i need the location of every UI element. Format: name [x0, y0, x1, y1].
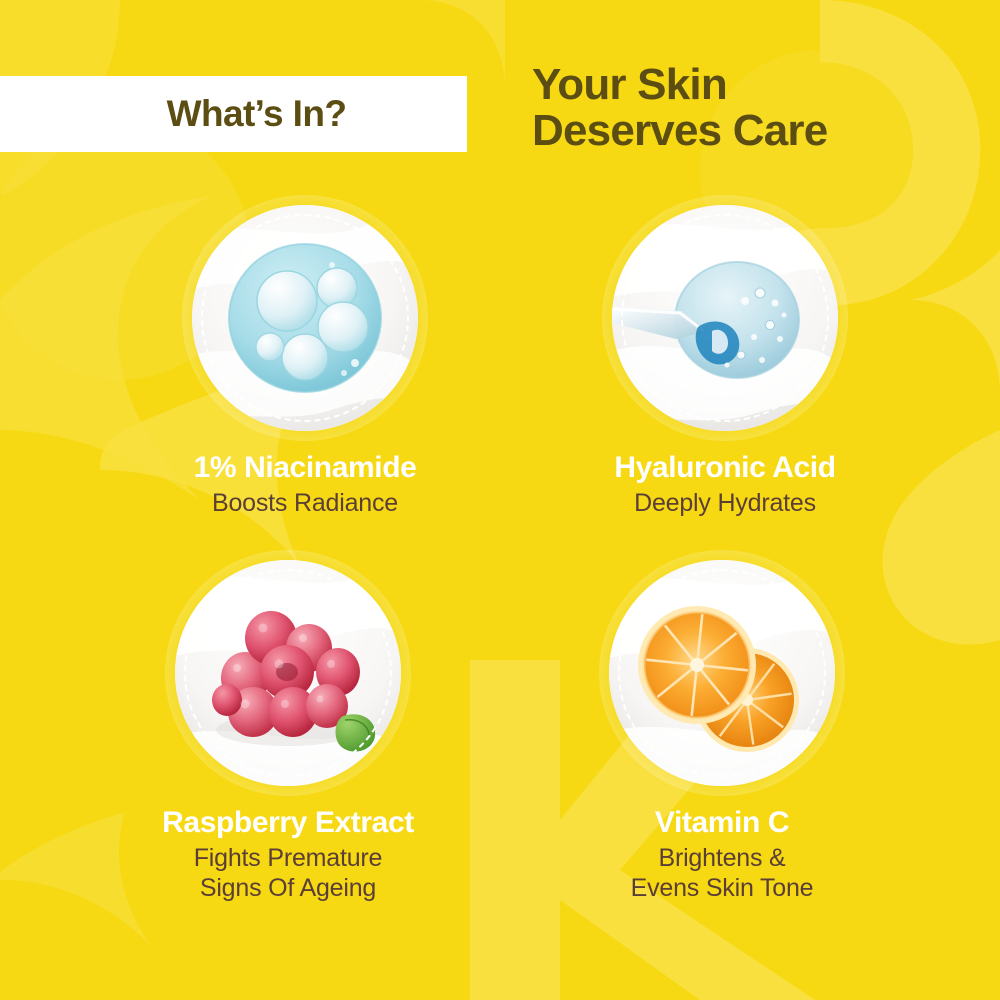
ingredient-name: Vitamin C [572, 806, 872, 840]
whats-in-banner: What’s In? [0, 76, 467, 152]
ingredient-image-wrap [175, 560, 401, 786]
benefit-line: Brightens & [572, 843, 872, 873]
orange-slices-on-cream-swatch-icon [609, 560, 835, 786]
raspberries-on-cream-swatch-icon [175, 560, 401, 786]
ingredient-image-wrap [192, 205, 418, 431]
headline-line-1: Your Skin [532, 62, 827, 108]
ingredient-name: 1% Niacinamide [155, 451, 455, 485]
ingredient-card-vitamin-c: Vitamin C Brightens & Evens Skin Tone [572, 560, 872, 903]
benefit-line: Fights Premature [138, 843, 438, 873]
benefit-line: Signs Of Ageing [138, 873, 438, 903]
ingredient-card-raspberry-extract: Raspberry Extract Fights Premature Signs… [138, 560, 438, 903]
blue-serum-bubbles-on-cream-swatch-icon [192, 205, 418, 431]
ingredient-image-wrap [609, 560, 835, 786]
headline-line-2: Deserves Care [532, 108, 827, 154]
ingredient-name: Hyaluronic Acid [575, 451, 875, 485]
benefit-line: Boosts Radiance [155, 488, 455, 518]
ingredient-infographic-poster: What’s In? Your Skin Deserves Care [0, 0, 1000, 1000]
ingredient-benefit: Brightens & Evens Skin Tone [572, 843, 872, 903]
ingredient-name: Raspberry Extract [138, 806, 438, 840]
whats-in-label: What’s In? [167, 93, 347, 135]
ingredient-image-wrap [612, 205, 838, 431]
ingredient-benefit: Fights Premature Signs Of Ageing [138, 843, 438, 903]
ingredient-benefit: Boosts Radiance [155, 488, 455, 518]
ingredient-card-niacinamide: 1% Niacinamide Boosts Radiance [155, 205, 455, 518]
benefit-line: Deeply Hydrates [575, 488, 875, 518]
ingredient-card-hyaluronic-acid: Hyaluronic Acid Deeply Hydrates [575, 205, 875, 518]
benefit-line: Evens Skin Tone [572, 873, 872, 903]
page-title: Your Skin Deserves Care [532, 62, 827, 154]
dropper-with-clear-gel-on-cream-swatch-icon [612, 205, 838, 431]
ingredient-benefit: Deeply Hydrates [575, 488, 875, 518]
